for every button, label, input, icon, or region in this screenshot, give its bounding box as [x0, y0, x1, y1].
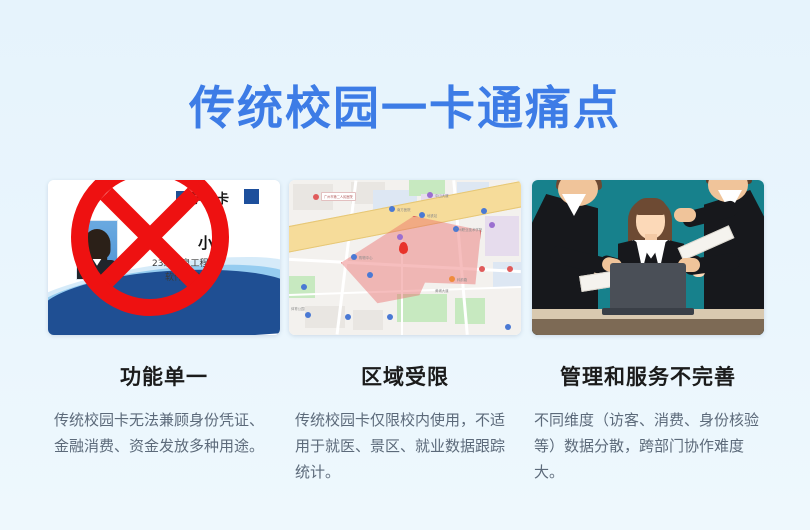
- map-poi-marker[interactable]: [301, 284, 307, 290]
- card-heading: 功能单一: [48, 361, 280, 391]
- map-block: [353, 310, 383, 330]
- map-poi-marker[interactable]: [479, 266, 485, 272]
- map-poi-marker[interactable]: [505, 324, 511, 330]
- map-illustration: 广州市第二人民医院 南方医院 地铁站 中山大道 广州职业技术学院 购物中心 科韵…: [289, 180, 521, 335]
- map-poi-marker[interactable]: [489, 222, 495, 228]
- laptop-screen: [610, 263, 686, 311]
- page-title: 传统校园一卡通痛点: [0, 72, 810, 138]
- map-poi-marker[interactable]: [345, 314, 351, 320]
- card-heading: 管理和服务不完善: [532, 361, 764, 391]
- map-poi-marker[interactable]: [313, 194, 319, 200]
- map-location-pin-icon: [399, 242, 408, 254]
- map-image: 广州市第二人民医院 南方医院 地铁站 中山大道 广州职业技术学院 购物中心 科韵…: [289, 180, 521, 335]
- map-poi-marker[interactable]: [507, 266, 513, 272]
- map-poi-label: 广州市第二人民医院: [321, 192, 356, 201]
- map-poi-label: 购物中心: [359, 255, 373, 260]
- pain-point-card-list: 学生卡 小明 23级信息工程系 软件技术2班 功能单一 传统校: [0, 180, 810, 510]
- map-poi-marker[interactable]: [387, 314, 393, 320]
- laptop-base: [602, 308, 694, 315]
- map-poi-marker[interactable]: [351, 254, 357, 260]
- map-poi-label: 黄埔大道: [435, 288, 449, 293]
- student-id-card-image: 学生卡 小明 23级信息工程系 软件技术2班: [48, 180, 280, 335]
- map-poi-marker[interactable]: [389, 206, 395, 212]
- map-poi-marker[interactable]: [419, 212, 425, 218]
- map-park: [397, 294, 447, 322]
- map-poi-label: 南方医院: [397, 207, 411, 212]
- right-person-pointing-hand: [674, 208, 696, 222]
- pain-point-card-area-limited[interactable]: 广州市第二人民医院 南方医院 地铁站 中山大道 广州职业技术学院 购物中心 科韵…: [289, 180, 521, 485]
- center-woman-fringe: [634, 198, 667, 215]
- card-body: 传统校园卡无法兼顾身份凭证、金融消费、资金发放多种用途。: [48, 407, 280, 459]
- office-image: [532, 180, 764, 335]
- card-body: 传统校园卡仅限校内使用，不适用于就医、景区、就业数据跟踪统计。: [289, 407, 521, 485]
- map-poi-marker[interactable]: [481, 208, 487, 214]
- map-park: [455, 298, 485, 324]
- map-poi-marker[interactable]: [397, 234, 403, 240]
- map-poi-label: 地铁站: [427, 213, 437, 218]
- card-heading: 区域受限: [289, 361, 521, 391]
- map-poi-label: 中山大道: [435, 193, 449, 198]
- student-id-card-illustration: 学生卡 小明 23级信息工程系 软件技术2班: [48, 180, 280, 335]
- card-body: 不同维度（访客、消费、身份核验等）数据分散，跨部门协作难度大。: [532, 407, 764, 485]
- map-poi-label: 广州职业技术学院: [455, 227, 482, 232]
- map-poi-label: 科韵路: [457, 277, 467, 282]
- pain-point-card-management-service[interactable]: 管理和服务不完善 不同维度（访客、消费、身份核验等）数据分散，跨部门协作难度大。: [532, 180, 764, 485]
- map-poi-label: 体育公园: [291, 306, 305, 311]
- map-poi-marker[interactable]: [427, 192, 433, 198]
- office-illustration: [532, 180, 764, 335]
- map-poi-marker[interactable]: [367, 272, 373, 278]
- map-poi-marker[interactable]: [305, 312, 311, 318]
- floor: [532, 319, 764, 335]
- card-header-square: [244, 189, 259, 204]
- map-poi-marker[interactable]: [449, 276, 455, 282]
- pain-point-card-single-function[interactable]: 学生卡 小明 23级信息工程系 软件技术2班 功能单一 传统校: [48, 180, 280, 459]
